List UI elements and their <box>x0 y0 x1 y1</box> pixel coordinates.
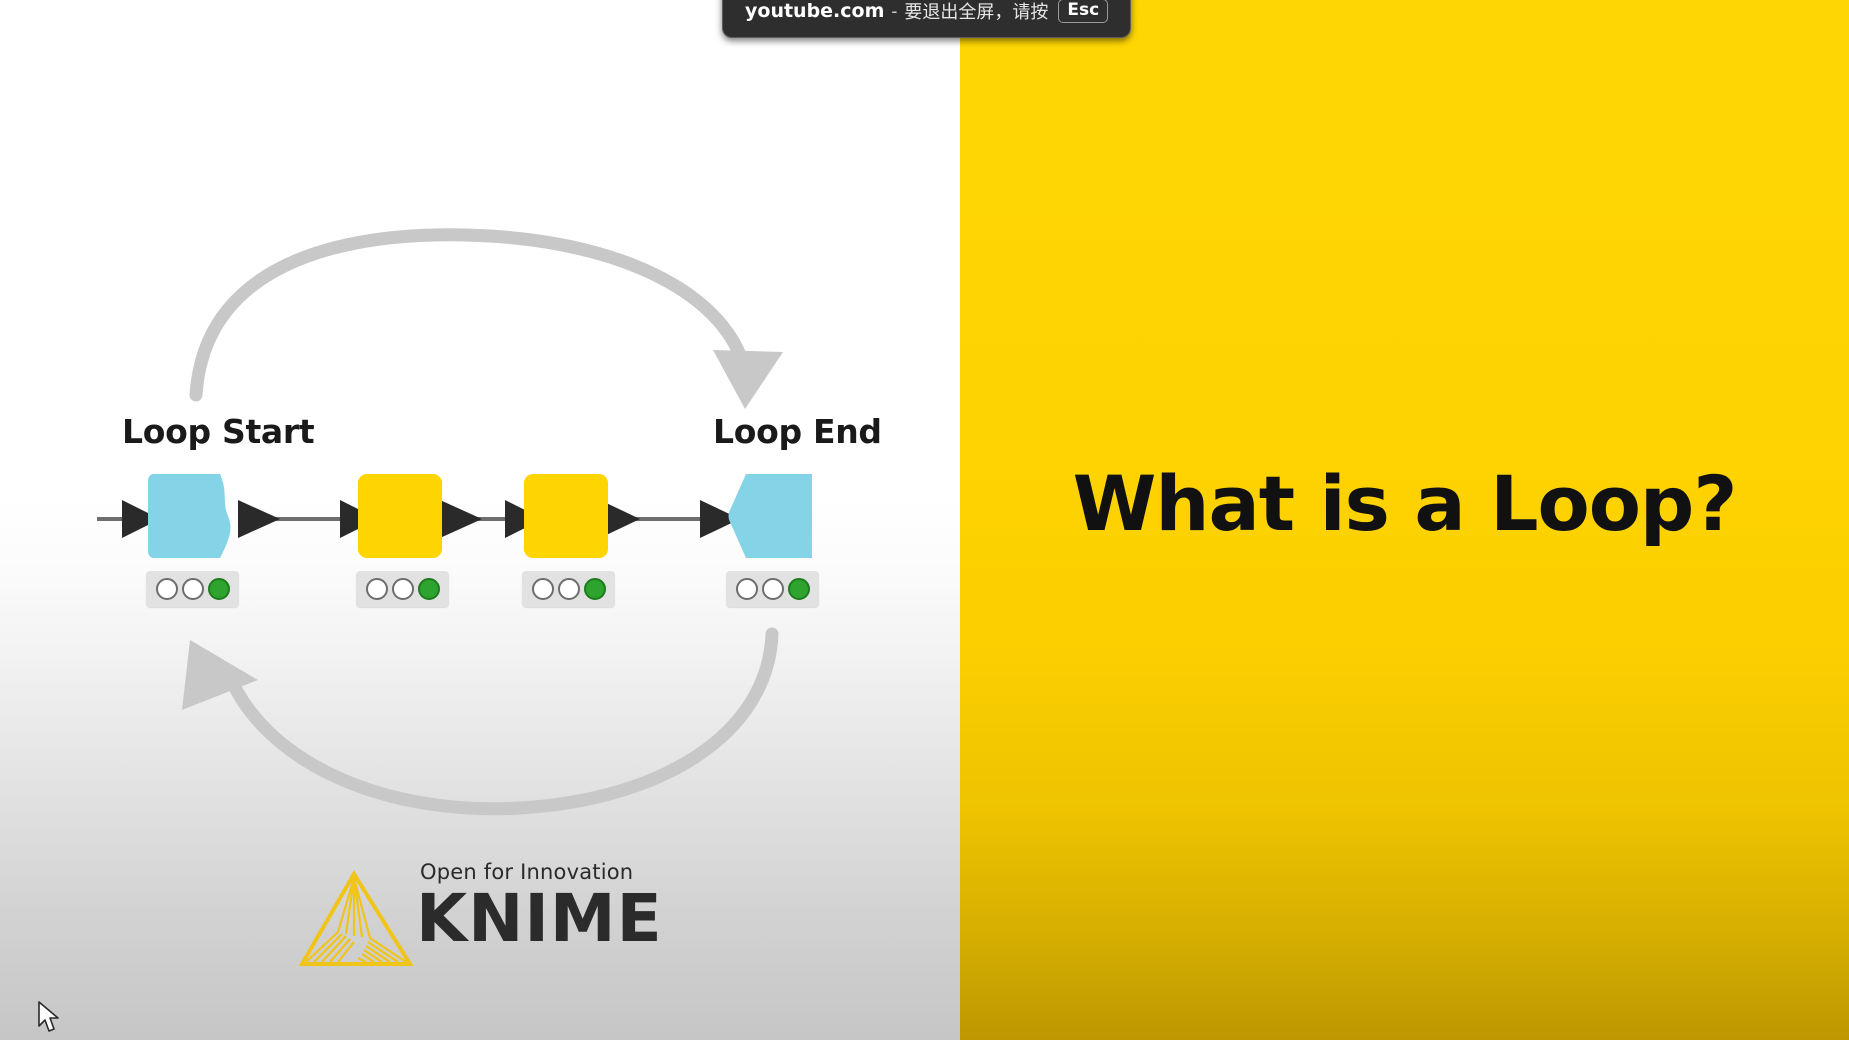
knime-triangle-icon <box>298 870 416 970</box>
top-loop-arrow-icon <box>196 235 783 409</box>
knime-loop-diagram: Loop Start Loop End <box>0 0 960 1040</box>
node-loop-end[interactable] <box>728 472 818 560</box>
toast-message: 要退出全屏，请按 <box>904 0 1048 24</box>
fullscreen-exit-toast: youtube.com - 要退出全屏，请按 Esc <box>722 0 1131 38</box>
node-status-bar <box>356 571 449 607</box>
knime-logo: Open for Innovation KNIME <box>298 860 668 970</box>
loop-start-label: Loop Start <box>122 412 314 451</box>
esc-key-badge: Esc <box>1058 0 1108 23</box>
status-led-idle <box>736 578 758 600</box>
status-led-configured <box>762 578 784 600</box>
slide-right-panel: What is a Loop? <box>960 0 1849 1040</box>
loop-end-node-shape <box>728 472 818 560</box>
slide-title: What is a Loop? <box>960 466 1849 542</box>
status-led-configured <box>558 578 580 600</box>
status-led-executed <box>208 578 230 600</box>
bottom-loop-arrow-icon <box>182 634 772 809</box>
loop-end-label: Loop End <box>713 412 882 451</box>
toast-hostname: youtube.com <box>745 0 884 22</box>
node-status-bar <box>522 571 615 607</box>
processing-node-shape <box>524 472 614 560</box>
status-led-configured <box>182 578 204 600</box>
node-processing-2[interactable] <box>524 472 614 560</box>
status-led-executed <box>418 578 440 600</box>
node-status-bar <box>146 571 239 607</box>
loop-start-node-shape <box>148 472 238 560</box>
processing-node-shape <box>358 472 448 560</box>
status-led-configured <box>392 578 414 600</box>
node-processing-1[interactable] <box>358 472 448 560</box>
status-led-idle <box>532 578 554 600</box>
status-led-executed <box>788 578 810 600</box>
status-led-idle <box>156 578 178 600</box>
node-loop-start[interactable] <box>148 472 238 560</box>
screen: Loop Start Loop End <box>0 0 1849 1040</box>
node-status-bar <box>726 571 819 607</box>
status-led-idle <box>366 578 388 600</box>
knime-wordmark: KNIME <box>416 880 663 957</box>
toast-separator: - <box>891 1 897 22</box>
status-led-executed <box>584 578 606 600</box>
video-player-frame[interactable]: Loop Start Loop End <box>0 0 1849 1040</box>
